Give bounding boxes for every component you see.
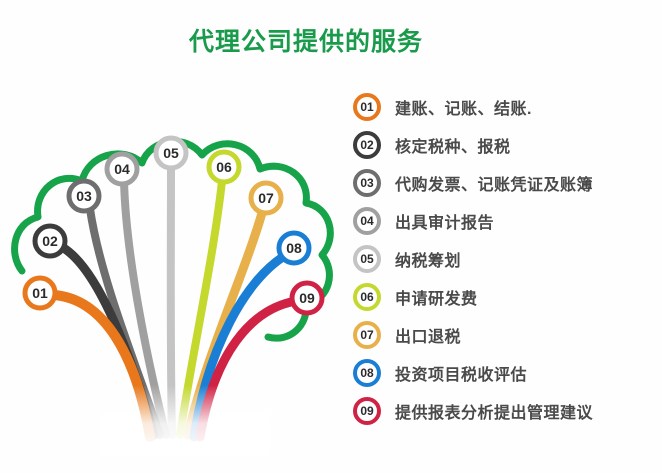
legend-label-01: 建账、记账、结账.	[395, 95, 532, 119]
legend-label-05: 纳税筹划	[395, 247, 461, 271]
legend-row-03[interactable]: 03代购发票、记账凭证及账簿	[353, 164, 658, 202]
legend-row-05[interactable]: 05纳税筹划	[353, 240, 658, 278]
tree-node-01[interactable]: 01	[23, 276, 57, 310]
legend-label-04: 出具审计报告	[395, 209, 494, 233]
legend-row-01[interactable]: 01建账、记账、结账.	[353, 88, 658, 126]
legend-row-07[interactable]: 07出口退税	[353, 316, 658, 354]
legend-row-02[interactable]: 02核定税种、报税	[353, 126, 658, 164]
legend-label-09: 提供报表分析提出管理建议	[395, 399, 593, 423]
tree-node-02[interactable]: 02	[33, 224, 67, 258]
legend-label-03: 代购发票、记账凭证及账簿	[395, 171, 593, 195]
legend-row-09[interactable]: 09提供报表分析提出管理建议	[353, 392, 658, 430]
legend-row-08[interactable]: 08投资项目税收评估	[353, 354, 658, 392]
legend-badge-04: 04	[353, 207, 381, 235]
legend-badge-08: 08	[353, 359, 381, 387]
legend-badge-09: 09	[353, 397, 381, 425]
legend-row-06[interactable]: 06申请研发费	[353, 278, 658, 316]
tree-node-06[interactable]: 06	[207, 150, 241, 184]
stem-fade-mask	[100, 385, 270, 455]
tree-node-09[interactable]: 09	[290, 281, 324, 315]
legend-label-08: 投资项目税收评估	[395, 361, 527, 385]
legend-label-06: 申请研发费	[395, 285, 478, 309]
legend-label-02: 核定税种、报税	[395, 133, 511, 157]
tree-diagram: 010203040506070809	[0, 55, 350, 455]
legend-badge-02: 02	[353, 131, 381, 159]
legend-badge-07: 07	[353, 321, 381, 349]
tree-node-05[interactable]: 05	[154, 136, 188, 170]
tree-node-08[interactable]: 08	[277, 231, 311, 265]
legend-row-04[interactable]: 04出具审计报告	[353, 202, 658, 240]
legend-badge-06: 06	[353, 283, 381, 311]
legend-badge-03: 03	[353, 169, 381, 197]
infographic-canvas: 代理公司提供的服务	[0, 0, 662, 473]
tree-node-07[interactable]: 07	[249, 181, 283, 215]
legend-badge-01: 01	[353, 93, 381, 121]
service-legend-list: 01建账、记账、结账.02核定税种、报税03代购发票、记账凭证及账簿04出具审计…	[353, 88, 658, 430]
page-title: 代理公司提供的服务	[0, 22, 612, 58]
tree-node-04[interactable]: 04	[105, 152, 139, 186]
legend-label-07: 出口退税	[395, 323, 461, 347]
legend-badge-05: 05	[353, 245, 381, 273]
tree-node-03[interactable]: 03	[67, 179, 101, 213]
